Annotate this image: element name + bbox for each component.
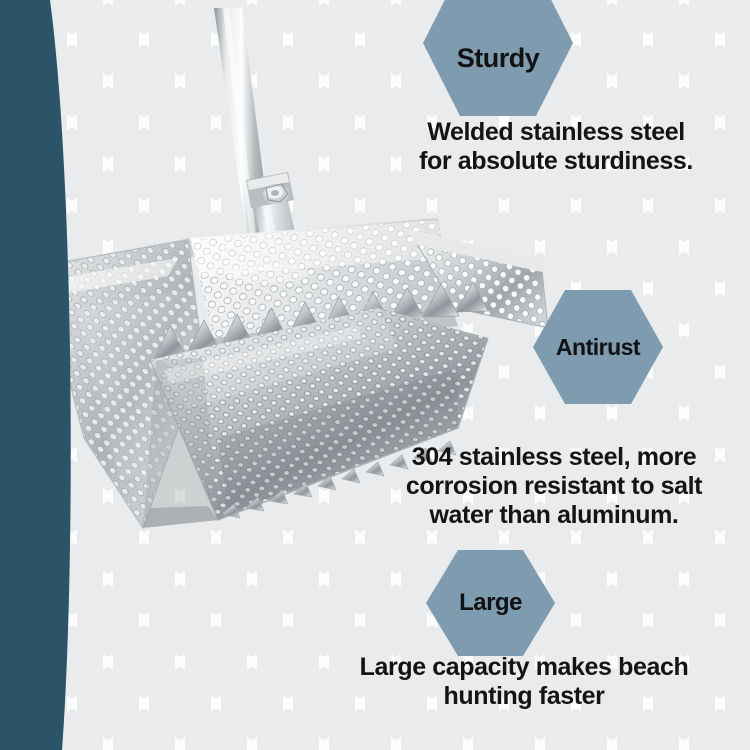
infographic-canvas: Sturdy Antirust Large Welded stainless s… [0,0,750,750]
feature-description-line: Welded stainless steel [362,118,750,147]
feature-description-antirust: 304 stainless steel, more corrosion resi… [358,443,750,530]
feature-description-line: corrosion resistant to salt [358,472,750,501]
feature-description-line: hunting faster [300,682,748,711]
feature-description-line: Large capacity makes beach [300,653,748,682]
feature-badge-antirust: Antirust [531,288,665,406]
feature-description-line: water than aluminum. [358,501,750,530]
feature-badge-large: Large [424,548,557,658]
feature-badge-label: Large [459,589,522,617]
feature-description-line: for absolute sturdiness. [362,147,750,176]
feature-badge-label: Antirust [556,334,640,361]
feature-description-line: 304 stainless steel, more [358,443,750,472]
feature-badge-label: Sturdy [457,43,540,74]
feature-badge-sturdy: Sturdy [422,0,574,118]
feature-description-large: Large capacity makes beach hunting faste… [300,653,748,711]
feature-description-sturdy: Welded stainless steel for absolute stur… [362,118,750,176]
